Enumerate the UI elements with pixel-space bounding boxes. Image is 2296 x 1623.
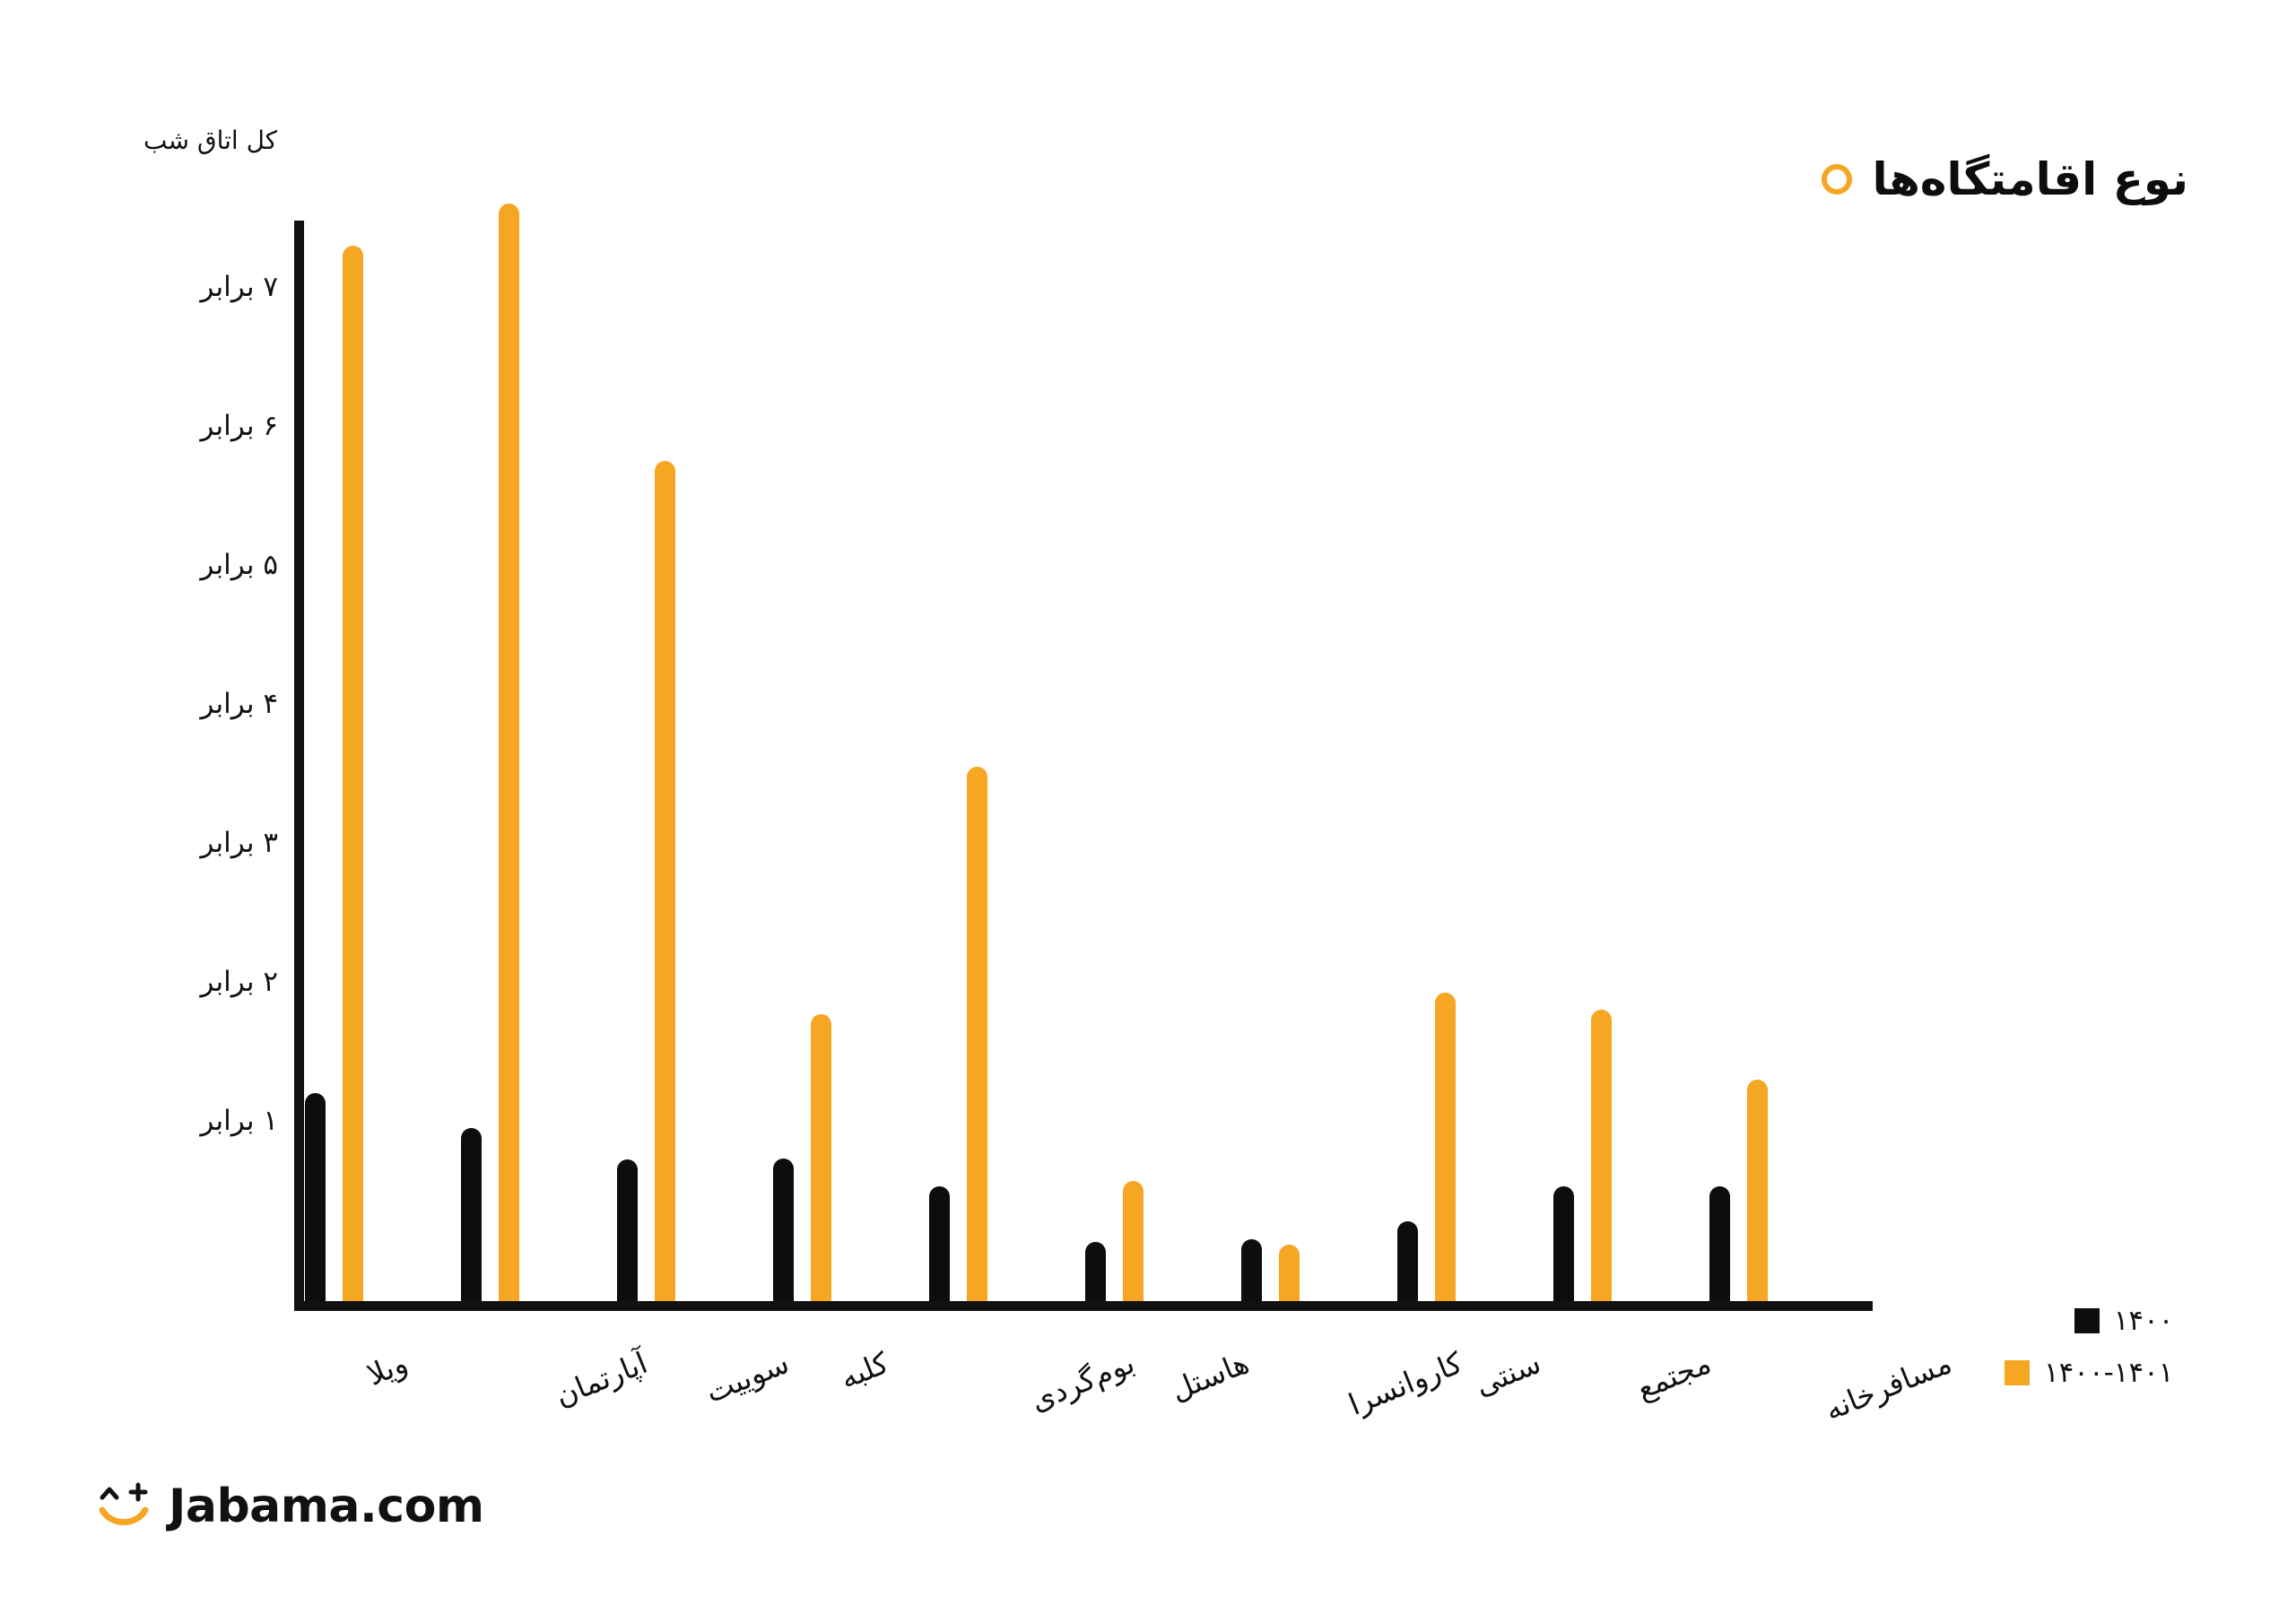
bar-series2 [1279,1245,1300,1301]
bar-series1 [1241,1239,1262,1301]
bar-series2 [1747,1080,1768,1302]
y-tick-label: ۴ برابر [117,688,278,720]
bar-series2 [1435,993,1456,1301]
bar-series1 [929,1186,950,1301]
x-tick-label: کلبه [835,1345,893,1396]
y-tick-label: ۵ برابر [117,549,278,581]
bar-series1 [1709,1186,1730,1301]
bar-series1 [617,1159,638,1301]
y-axis-line [294,221,304,1311]
chart-legend: ۱۴۰۰۱۴۰۰-۱۴۰۱ [2005,1305,2173,1389]
legend-item: ۱۴۰۰-۱۴۰۱ [2005,1357,2173,1389]
y-tick-label: ۲ برابر [117,966,278,998]
y-tick-label: ۱ برابر [117,1105,278,1137]
bar-series1 [1085,1242,1106,1301]
bar-series2 [1591,1010,1612,1301]
x-axis-line [294,1301,1873,1311]
legend-label: ۱۴۰۰ [2114,1305,2174,1337]
x-tick-label: آپارتمان [550,1345,652,1413]
legend-swatch-icon [2005,1360,2030,1385]
bar-series1 [461,1128,482,1301]
chart-plot-area: ۱ برابر۲ برابر۳ برابر۴ برابر۵ برابر۶ برا… [0,0,2296,1623]
legend-label: ۱۴۰۰-۱۴۰۱ [2044,1357,2173,1389]
x-tick-label: بوم‌گردی [1025,1345,1139,1419]
x-tick-label: سنتی [1470,1345,1545,1402]
bar-series1 [1553,1186,1574,1301]
bar-series2 [343,246,363,1302]
y-tick-label: ۶ برابر [117,410,278,442]
x-tick-label: مجتمع [1631,1345,1716,1406]
x-tick-label: مسافرخانه [1820,1345,1956,1428]
brand-name: Jabama.com [169,1480,484,1533]
x-tick-label: ویلا [362,1345,413,1393]
x-tick-label: هاستل [1166,1345,1254,1408]
bar-series1 [1397,1221,1418,1301]
bar-series2 [967,767,987,1301]
x-tick-label: سوییت [700,1345,794,1410]
jabama-smiley-icon [97,1480,152,1533]
bar-series2 [499,204,519,1301]
y-tick-label: ۳ برابر [117,827,278,859]
legend-item: ۱۴۰۰ [2005,1305,2173,1337]
brand-logo: Jabama.com [97,1480,484,1533]
bar-series1 [773,1159,794,1301]
bar-series2 [1123,1181,1144,1301]
bar-series1 [305,1093,326,1301]
bar-series2 [655,461,675,1301]
x-tick-label: کاروانسرا [1344,1345,1467,1422]
y-tick-label: ۷ برابر [117,271,278,303]
legend-swatch-icon [2074,1308,2100,1333]
bar-series2 [811,1014,831,1301]
